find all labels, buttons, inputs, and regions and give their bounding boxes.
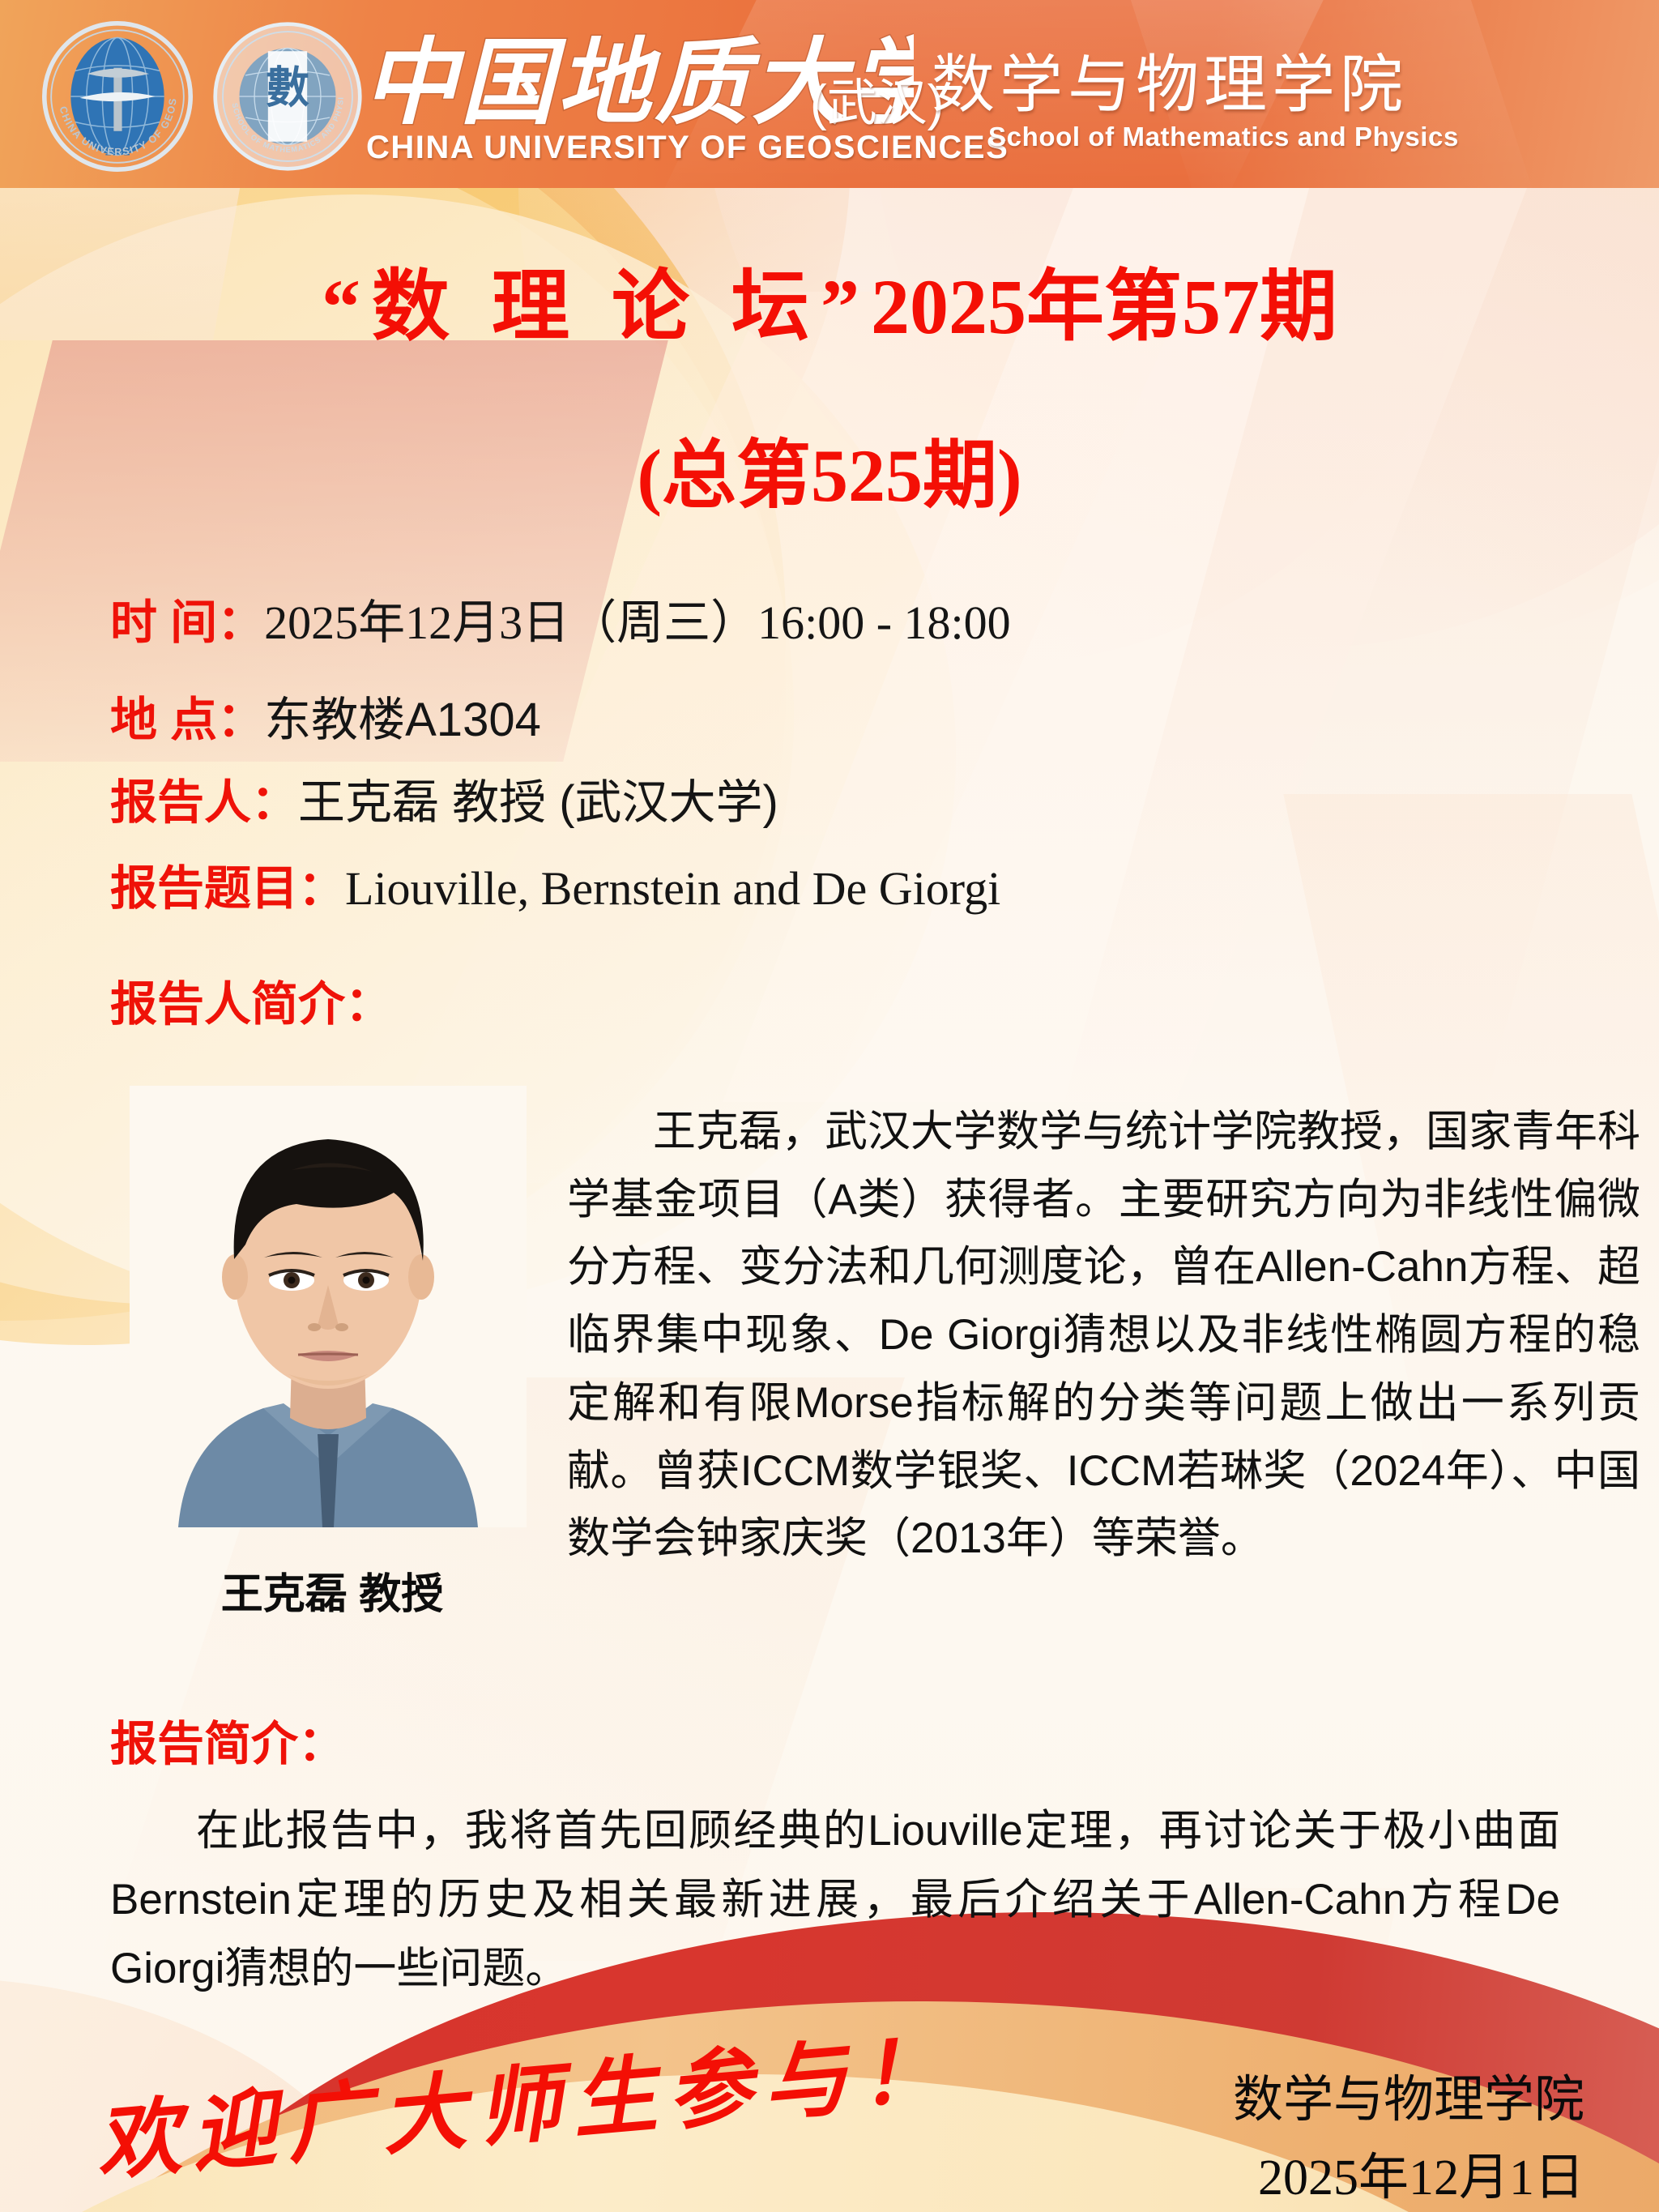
footer-date: 2025年12月1日	[1258, 2136, 1584, 2209]
abstract-text: 在此报告中，我将首先回顾经典的Liouville定理，再讨论关于极小曲面Bern…	[110, 1797, 1560, 2003]
speaker-bio-heading: 报告人简介：	[110, 966, 392, 1034]
poster-root: 1952 CHINA UNIVERSITY OF GEOSCIENCES	[0, 0, 1659, 2212]
info-topic-row: 报告题目：Liouville, Bernstein and De Giorgi	[110, 865, 1000, 912]
info-speaker-label: 报告人：	[110, 776, 298, 829]
info-speaker-value: 王克磊 教授 (武汉大学)	[298, 776, 778, 829]
forum-title-issue: 2025年第57期	[871, 263, 1337, 350]
info-time-row: 时 间：2025年12月3日（周三）16:00 - 18:00	[110, 600, 1011, 647]
university-name-english: CHINA UNIVERSITY OF GEOSCIENCES	[366, 130, 1009, 166]
info-time-value: 2025年12月3日（周三）16:00 - 18:00	[264, 596, 1011, 649]
speaker-photo-caption: 王克磊 教授	[113, 1560, 551, 1621]
info-topic-value: Liouville, Bernstein and De Giorgi	[345, 862, 1000, 915]
info-place-value: 东教楼A1304	[264, 694, 541, 746]
speaker-photo	[130, 1086, 527, 1527]
school-name-chinese: 数学与物理学院	[932, 34, 1408, 125]
svg-text:數: 數	[266, 63, 309, 112]
forum-title: “数 理 论 坛”2025年第57期	[0, 243, 1659, 356]
speaker-bio-text: 王克磊，武汉大学数学与统计学院教授，国家青年科学基金项目（A类）获得者。主要研究…	[567, 1098, 1640, 1573]
info-speaker-row: 报告人：王克磊 教授 (武汉大学)	[110, 779, 778, 826]
abstract-heading: 报告简介：	[110, 1706, 345, 1774]
school-name-english: School of Mathematics and Physics	[988, 122, 1459, 152]
info-place-label: 地 点：	[110, 694, 264, 746]
forum-title-total-issue: (总第525期)	[0, 415, 1659, 523]
footer-organizer: 数学与物理学院	[1233, 2058, 1584, 2131]
school-of-math-physics-logo-icon: 數 SCHOOL OF MATHEMATICS AND PHYSICS	[212, 21, 363, 172]
poster-header: 1952 CHINA UNIVERSITY OF GEOSCIENCES	[0, 0, 1659, 188]
info-time-label: 时 间：	[110, 596, 264, 649]
info-topic-label: 报告题目：	[110, 862, 345, 915]
info-place-row: 地 点：东教楼A1304	[110, 697, 541, 744]
university-city-suffix: (武汉)	[810, 62, 944, 135]
cug-university-logo-icon: 1952 CHINA UNIVERSITY OF GEOSCIENCES	[42, 21, 193, 172]
forum-title-quoted: “数 理 论 坛”	[322, 263, 871, 350]
